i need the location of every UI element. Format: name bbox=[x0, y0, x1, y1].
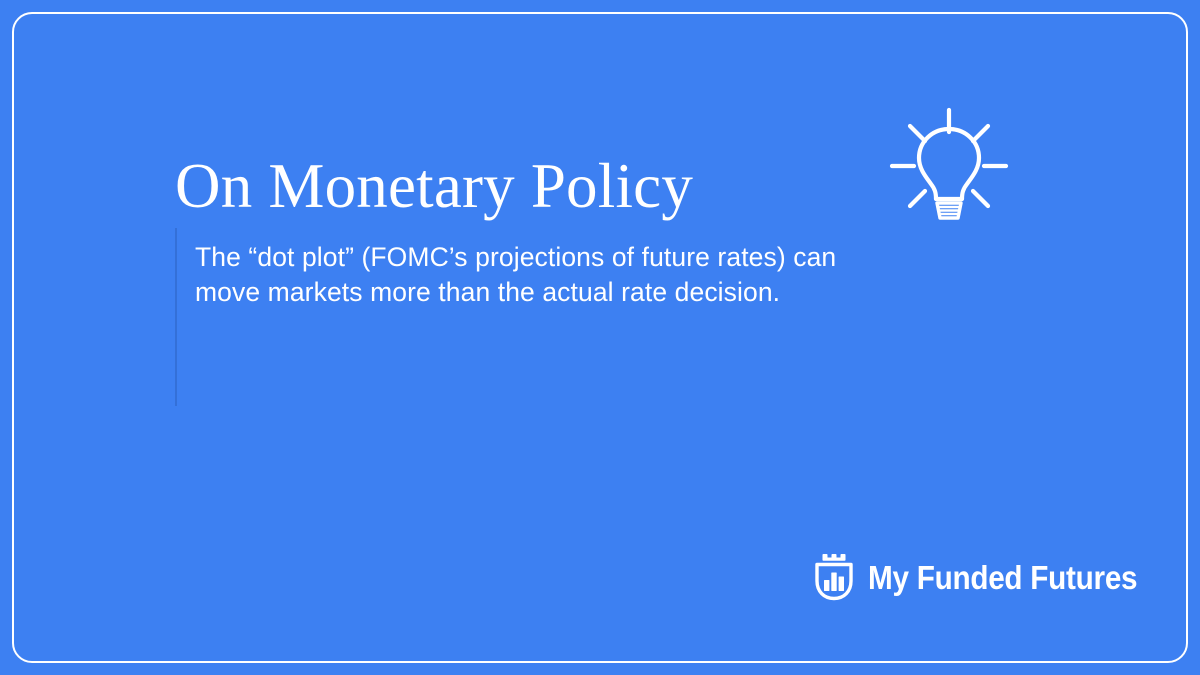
lightbulb-icon bbox=[886, 100, 1012, 226]
slide-canvas: On Monetary Policy The “dot plot” (FOMC’… bbox=[0, 0, 1200, 675]
brand-logo: My Funded Futures bbox=[813, 552, 1167, 602]
shield-bar-chart-icon bbox=[813, 553, 855, 601]
brand-name: My Funded Futures bbox=[868, 561, 1137, 594]
body-paragraph: The “dot plot” (FOMC’s projections of fu… bbox=[177, 228, 875, 310]
body-callout: The “dot plot” (FOMC’s projections of fu… bbox=[175, 228, 875, 406]
page-title: On Monetary Policy bbox=[175, 146, 693, 226]
